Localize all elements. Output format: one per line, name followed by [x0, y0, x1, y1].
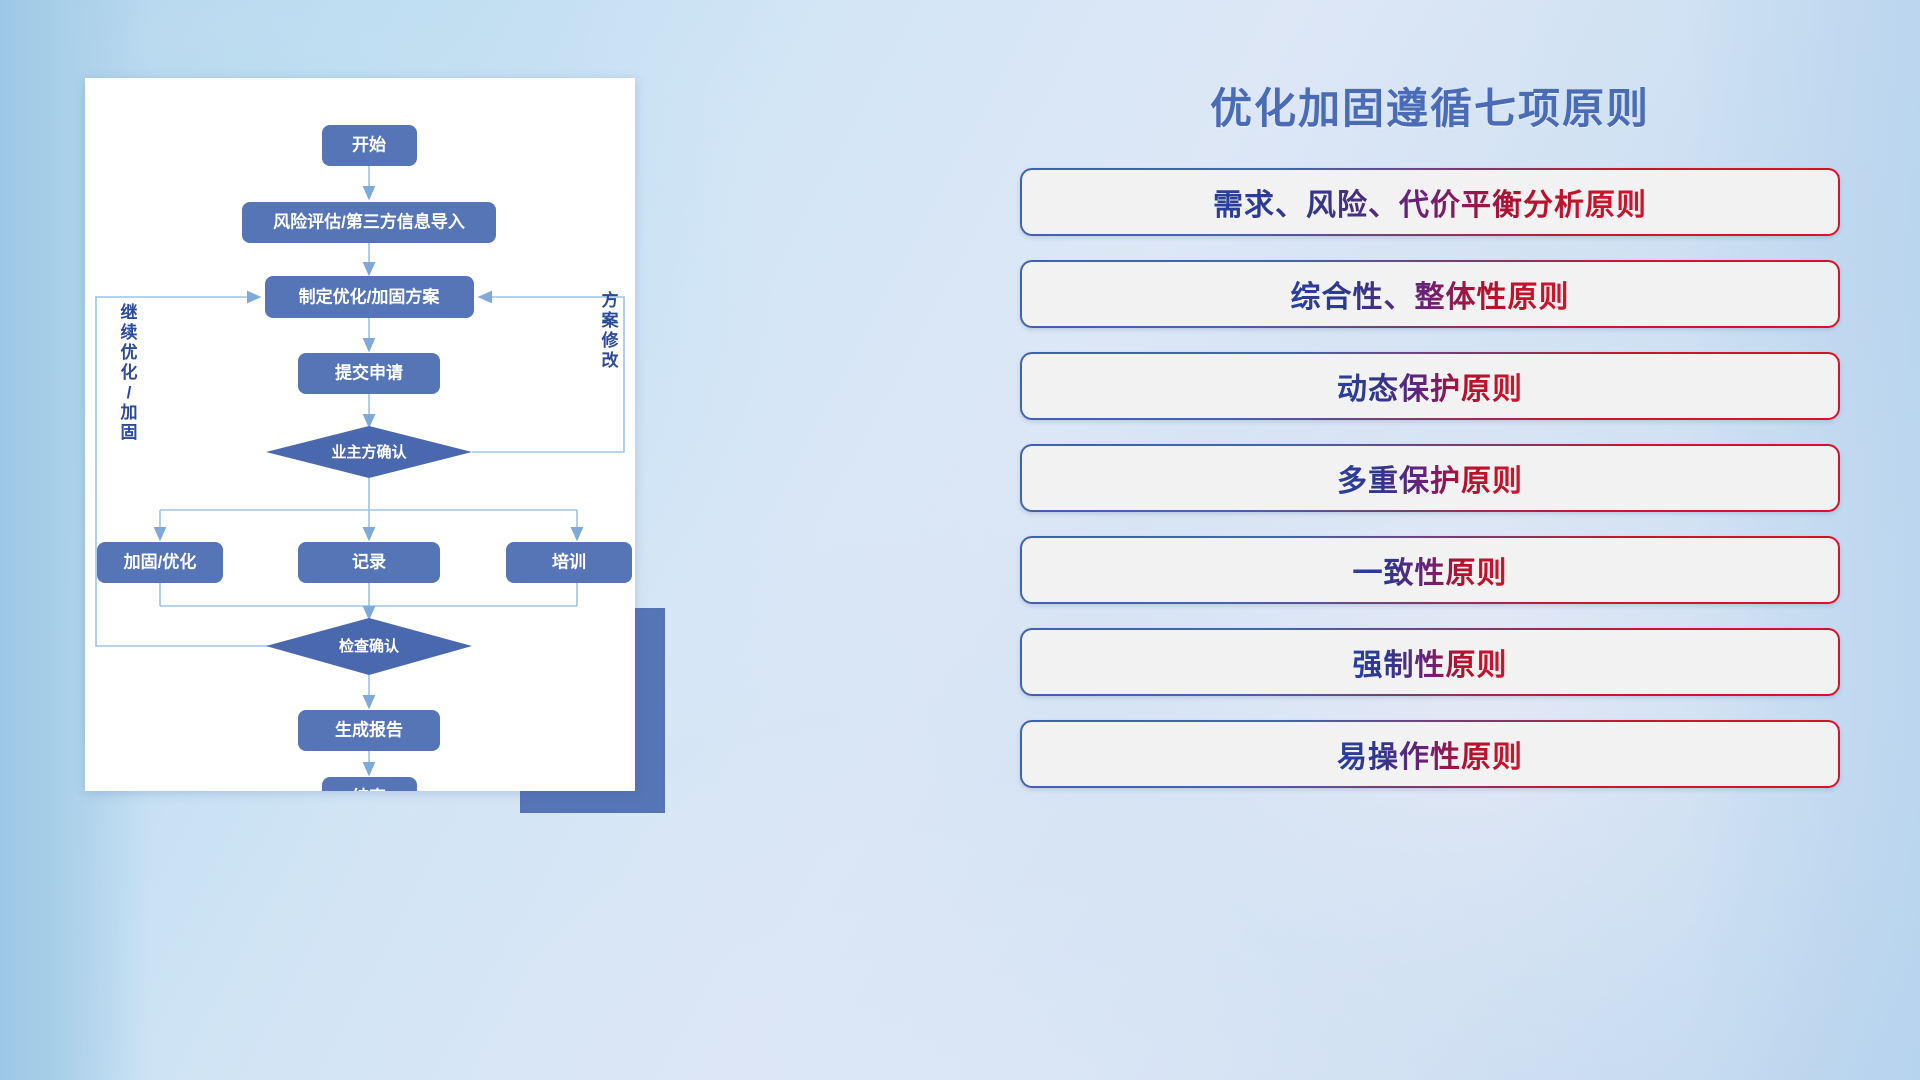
flow-node-start-label: 开始: [352, 134, 386, 154]
flowchart-region: 开始 风险评估/第三方信息导入 制定优化/加固方案 提交申请: [85, 78, 665, 808]
principle-card-label: 需求、风险、代价平衡分析原则: [1213, 180, 1647, 224]
principles-card-list: 需求、风险、代价平衡分析原则 综合性、整体性原则 动态保护原则 多重保护原则: [1020, 168, 1840, 788]
flow-node-owner-confirm[interactable]: 业主方确认: [266, 426, 472, 478]
principle-card-label: 综合性、整体性原则: [1291, 272, 1570, 316]
flow-node-plan[interactable]: 制定优化/加固方案: [265, 276, 474, 318]
flow-node-check-confirm[interactable]: 检查确认: [266, 618, 472, 675]
principle-card-body: 一致性原则: [1022, 538, 1838, 602]
principle-card[interactable]: 综合性、整体性原则: [1020, 260, 1840, 328]
flow-node-end-label: 结束: [352, 786, 386, 791]
flow-node-reinforce[interactable]: 加固/优化: [97, 542, 223, 583]
flow-node-record[interactable]: 记录: [298, 542, 440, 583]
flow-node-plan-label: 制定优化/加固方案: [299, 286, 441, 306]
principle-card-body: 动态保护原则: [1022, 354, 1838, 418]
flow-node-risk-assessment-label: 风险评估/第三方信息导入: [273, 211, 465, 231]
principle-card-body: 多重保护原则: [1022, 446, 1838, 510]
edge-label-continue-optimize: 继续优化/加固: [120, 302, 138, 442]
principle-card[interactable]: 一致性原则: [1020, 536, 1840, 604]
flow-node-submit-label: 提交申请: [335, 362, 403, 382]
principle-card[interactable]: 易操作性原则: [1020, 720, 1840, 788]
flow-node-start[interactable]: 开始: [322, 125, 417, 166]
principle-card[interactable]: 动态保护原则: [1020, 352, 1840, 420]
flow-node-report[interactable]: 生成报告: [298, 710, 440, 751]
flow-node-risk-assessment[interactable]: 风险评估/第三方信息导入: [242, 202, 496, 243]
principle-card-label: 多重保护原则: [1337, 456, 1523, 500]
flow-node-training[interactable]: 培训: [506, 542, 632, 583]
edge-label-plan-revise: 方案修改: [601, 290, 620, 370]
flow-node-owner-confirm-label: 业主方确认: [331, 443, 407, 461]
principle-card-body: 需求、风险、代价平衡分析原则: [1022, 170, 1838, 234]
flow-node-report-label: 生成报告: [335, 719, 403, 739]
principle-card-body: 强制性原则: [1022, 630, 1838, 694]
principle-card[interactable]: 多重保护原则: [1020, 444, 1840, 512]
flow-node-training-label: 培训: [552, 551, 586, 571]
principle-card-label: 一致性原则: [1353, 548, 1508, 592]
flow-node-record-label: 记录: [352, 552, 386, 571]
principle-card[interactable]: 强制性原则: [1020, 628, 1840, 696]
principle-card[interactable]: 需求、风险、代价平衡分析原则: [1020, 168, 1840, 236]
flowchart-diagram: 开始 风险评估/第三方信息导入 制定优化/加固方案 提交申请: [85, 78, 635, 791]
principles-panel: 优化加固遵循七项原则 需求、风险、代价平衡分析原则 综合性、整体性原则 动态保护…: [1020, 70, 1840, 1020]
principle-card-label: 强制性原则: [1353, 640, 1508, 684]
principle-card-label: 动态保护原则: [1337, 364, 1523, 408]
principle-card-label: 易操作性原则: [1337, 732, 1523, 776]
flow-node-end[interactable]: 结束: [322, 777, 417, 791]
panel-title: 优化加固遵循七项原则: [1020, 88, 1840, 130]
principle-card-body: 综合性、整体性原则: [1022, 262, 1838, 326]
flow-node-submit[interactable]: 提交申请: [298, 353, 440, 394]
slide-root: 开始 风险评估/第三方信息导入 制定优化/加固方案 提交申请: [0, 0, 1920, 1080]
flowchart-card: 开始 风险评估/第三方信息导入 制定优化/加固方案 提交申请: [85, 78, 635, 791]
principle-card-body: 易操作性原则: [1022, 722, 1838, 786]
flow-node-reinforce-label: 加固/优化: [123, 551, 197, 571]
flow-node-check-confirm-label: 检查确认: [339, 637, 400, 655]
